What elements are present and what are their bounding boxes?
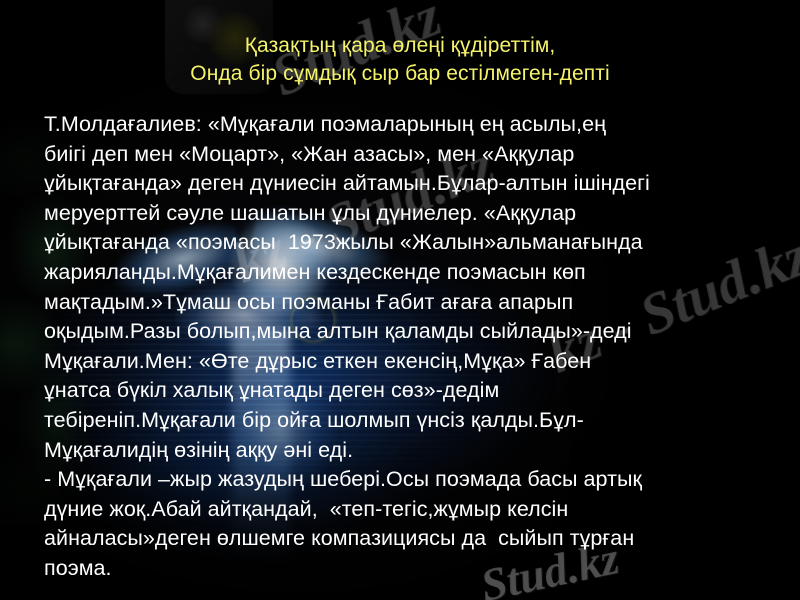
slide-body-text: Т.Молдағалиев: «Мұқағали поэмаларының ең… xyxy=(44,110,774,584)
body-line: ұйықтағанда» деген дүниесін айтамын.Бұла… xyxy=(44,169,774,199)
body-line: оқыдым.Разы болып,мына алтын қаламды сый… xyxy=(44,317,774,347)
body-line: Мұқағалидің өзінің аққу әні еді. xyxy=(44,436,774,466)
body-line: меруерттей сәуле шашатын ұлы дүниелер. «… xyxy=(44,199,774,229)
body-line: тебіреніп.Мұқағали бір ойға шолмып үнсіз… xyxy=(44,406,774,436)
slide-title: Қазақтың қара өлеңі құдіреттім, Онда бір… xyxy=(0,32,800,88)
body-line: айналасы»деген өлшемге компазициясы да с… xyxy=(44,524,774,554)
presentation-slide: Stud.kz kz - Stud.kz kz - Stud.kz Stud.k… xyxy=(0,0,800,600)
body-line: дүние жоқ.Абай айтқандай, «теп-тегіс,жұм… xyxy=(44,495,774,525)
body-line: ұйықтағанда «поэмасы 1973жылы «Жалын»аль… xyxy=(44,228,774,258)
body-line: биігі деп мен «Моцарт», «Жан азасы», мен… xyxy=(44,140,774,170)
body-line: Мұқағали.Мен: «Өте дұрыс еткен екенсің,М… xyxy=(44,347,774,377)
title-line: Қазақтың қара өлеңі құдіреттім, xyxy=(0,32,800,60)
body-line: - Мұқағали –жыр жазудың шебері.Осы поэма… xyxy=(44,465,774,495)
body-line: поэма. xyxy=(44,554,774,584)
body-line: мақтадым.»Тұмаш осы поэманы Ғабит ағаға … xyxy=(44,288,774,318)
body-line: ұнатса бүкіл халық ұнатады деген сөз»-де… xyxy=(44,376,774,406)
title-line: Онда бір сұмдық сыр бар естілмеген-депті xyxy=(0,60,800,88)
body-line: жарияланды.Мұқағалимен кездескенде поэма… xyxy=(44,258,774,288)
body-line: Т.Молдағалиев: «Мұқағали поэмаларының ең… xyxy=(44,110,774,140)
